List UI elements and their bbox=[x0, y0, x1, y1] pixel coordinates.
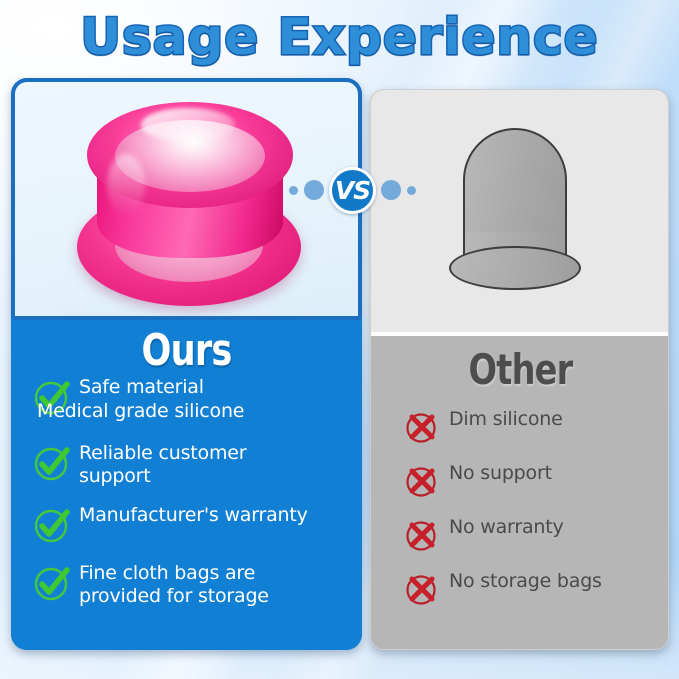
list-item: Manufacturer's warranty bbox=[11, 504, 362, 544]
cross-circle-icon bbox=[405, 518, 439, 552]
list-item-label: Manufacturer's warranty bbox=[79, 504, 308, 527]
vs-dot-icon bbox=[407, 186, 416, 195]
cup-side-highlight bbox=[107, 154, 145, 216]
list-item-text-group: Reliable customer support bbox=[79, 442, 246, 488]
check-circle-icon bbox=[33, 564, 71, 602]
gray-dome-cup-image bbox=[449, 128, 581, 292]
list-item-label: No storage bags bbox=[449, 570, 602, 593]
cross-circle-icon bbox=[405, 464, 439, 498]
check-circle-icon bbox=[33, 444, 71, 482]
infographic-canvas: Usage Experience Ours bbox=[0, 0, 679, 679]
vs-dot-icon bbox=[304, 180, 324, 200]
vs-divider-group: VS bbox=[289, 162, 447, 218]
check-circle-icon bbox=[33, 506, 71, 544]
list-item: Reliable customer support bbox=[11, 442, 362, 488]
ours-feature-list: Safe material Medical grade silicone Rel… bbox=[11, 376, 362, 608]
dome-foot bbox=[449, 246, 581, 290]
list-item: Fine cloth bags are provided for storage bbox=[11, 562, 362, 608]
vs-dot-icon bbox=[289, 186, 298, 195]
cross-circle-icon bbox=[405, 572, 439, 606]
list-item: Safe material Medical grade silicone bbox=[11, 376, 362, 416]
list-item-sublabel: provided for storage bbox=[79, 585, 269, 607]
list-item: Dim silicone bbox=[371, 408, 669, 444]
list-item: No support bbox=[371, 462, 669, 498]
list-item-label: No warranty bbox=[449, 516, 564, 539]
other-content-area: Other Dim silicone bbox=[371, 336, 669, 650]
list-item-label: Fine cloth bags are bbox=[79, 562, 255, 584]
list-item-text-group: Fine cloth bags are provided for storage bbox=[79, 562, 269, 608]
list-item: No warranty bbox=[371, 516, 669, 552]
page-title-container: Usage Experience bbox=[0, 6, 679, 68]
list-item-label: Reliable customer bbox=[79, 442, 246, 464]
list-item-label: No support bbox=[449, 462, 552, 485]
cup-highlight bbox=[141, 108, 235, 142]
pink-silicone-cup-image bbox=[71, 96, 307, 310]
list-item-sublabel: support bbox=[79, 465, 151, 487]
vs-dot-icon bbox=[381, 180, 401, 200]
ours-content-area: Ours Safe material Medical grade silicon… bbox=[11, 320, 362, 650]
list-item-label: Safe material bbox=[79, 376, 204, 399]
cross-circle-icon bbox=[405, 410, 439, 444]
ours-heading: Ours bbox=[46, 326, 327, 376]
list-item-sublabel: Medical grade silicone bbox=[37, 400, 244, 423]
other-heading: Other bbox=[401, 346, 640, 394]
list-item-label: Dim silicone bbox=[449, 408, 563, 431]
vs-badge: VS bbox=[329, 167, 376, 214]
list-item: No storage bags bbox=[371, 570, 669, 606]
other-feature-list: Dim silicone No support bbox=[371, 408, 669, 606]
page-title: Usage Experience bbox=[80, 6, 598, 68]
vs-label: VS bbox=[335, 178, 370, 203]
